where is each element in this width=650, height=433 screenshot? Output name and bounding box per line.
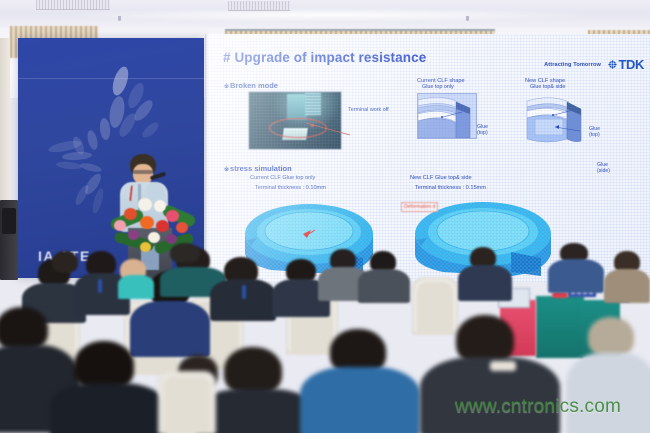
stress-case-new-detail: Terminal thickness : 0.15mm — [415, 185, 486, 191]
lanyard — [98, 279, 102, 293]
flower — [124, 208, 137, 220]
tdk-wordmark: TDK — [618, 57, 644, 72]
ceiling-light-glow — [60, 8, 600, 22]
banner-seam — [18, 78, 204, 79]
audience-body — [50, 383, 166, 433]
clf-new-label-glue-side: Glue (side) — [597, 162, 610, 174]
chair — [158, 371, 216, 433]
clf-new-subtitle: Glue top& side — [530, 84, 587, 90]
section-label: Broken mode — [230, 81, 278, 90]
clf-new-group: New CLF shape Glue top& side Glue ( — [525, 78, 587, 145]
component-chip — [287, 94, 307, 120]
chair — [412, 277, 458, 335]
brand-tagline: Attracting Tomorrow — [544, 62, 601, 68]
section-heading-stress-simulation: ※stress simulation — [224, 164, 292, 173]
clf-new-svg — [525, 93, 587, 145]
clf-current-subtitle: Glue top only — [422, 84, 477, 90]
petal-motif — [86, 129, 100, 151]
flower — [114, 220, 126, 231]
petal-motif — [79, 161, 102, 173]
component-chip — [305, 93, 321, 115]
callout-leader-line — [306, 123, 352, 137]
flower — [166, 210, 179, 222]
petal-motif — [73, 183, 90, 206]
broken-mode-photo — [248, 91, 342, 150]
deformation-annotation: Deformation d — [401, 202, 438, 212]
tdk-logo: TDK — [608, 57, 644, 72]
flower — [128, 230, 139, 240]
stress-case-new-title: New CLF Glue top& side — [410, 175, 472, 181]
audience-body — [130, 301, 210, 357]
stress-case-current-title: Current CLF Glue top only — [250, 175, 315, 181]
section-marker-icon: ※ — [224, 167, 229, 173]
slide-title: # Upgrade of impact resistance — [223, 50, 426, 65]
lanyard — [242, 285, 246, 299]
audience-body — [358, 269, 410, 303]
shirt-collar — [490, 361, 516, 371]
clf-new-label-glue-top: Glue (top) — [589, 126, 600, 138]
petal-motif — [56, 161, 83, 171]
clf-current-group: Current CLF shape Glue top only Glue (to… — [417, 78, 477, 139]
clf-new-illustration — [525, 93, 587, 145]
audience-body — [458, 265, 512, 301]
sprinkler-head — [466, 16, 469, 21]
stress-case-current-detail: Terminal thickness : 0.10mm — [255, 185, 326, 191]
sprinkler-head — [118, 16, 121, 21]
petal-motif — [110, 65, 132, 98]
audience-body — [566, 353, 650, 433]
flower — [154, 200, 166, 212]
petal-motif — [140, 120, 161, 140]
audience-head — [588, 317, 634, 357]
conference-photo-scene: IA ATE TY # Upgrade of impact resistance… — [0, 0, 650, 433]
clf-current-label-glue-top: Glue (top) — [477, 124, 488, 136]
label-terminal-work-off: Terminal work off — [348, 107, 389, 113]
presenter-face — [133, 164, 153, 184]
site-watermark: www.cntronics.com — [455, 396, 621, 418]
audience-body — [604, 269, 650, 303]
brand-block: Attracting Tomorrow TDK — [544, 57, 644, 72]
flower — [176, 222, 188, 233]
section-marker-icon: ※ — [224, 84, 229, 90]
clf-current-svg — [418, 94, 476, 138]
audience-body — [548, 259, 604, 293]
audience-head — [170, 243, 200, 263]
audience-head — [224, 347, 282, 395]
flower — [140, 216, 154, 229]
section-label: stress simulation — [230, 164, 292, 173]
audience-head — [52, 251, 78, 273]
audience-body — [300, 367, 420, 433]
presenter-glasses — [133, 170, 153, 174]
flower — [156, 220, 169, 232]
flower — [148, 232, 160, 243]
petal-motif — [62, 151, 92, 161]
ceiling-vent — [228, 1, 290, 11]
section-heading-broken-mode: ※Broken mode — [224, 81, 278, 90]
flower — [138, 198, 152, 211]
tdk-flower-mark — [608, 60, 617, 69]
audience-body — [118, 275, 154, 299]
ceiling-vent — [36, 0, 110, 10]
clf-current-illustration — [417, 93, 477, 139]
